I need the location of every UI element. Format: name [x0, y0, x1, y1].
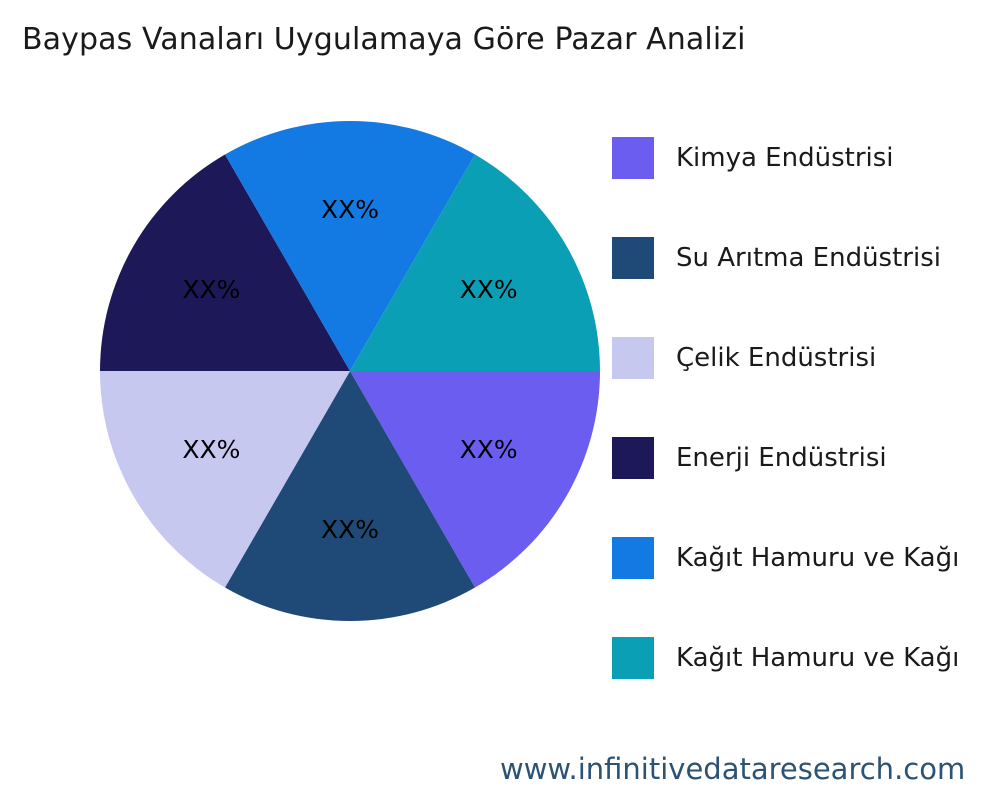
legend-item-label: Enerji Endüstrisi: [676, 443, 887, 473]
legend-item[interactable]: Enerji Endüstrisi: [612, 408, 1000, 508]
pie-slice-percent-label: XX%: [182, 435, 240, 464]
legend-item-label: Kimya Endüstrisi: [676, 143, 894, 173]
chart-legend: Kimya EndüstrisiSu Arıtma EndüstrisiÇeli…: [612, 108, 1000, 708]
legend-color-swatch: [612, 137, 654, 179]
legend-item[interactable]: Su Arıtma Endüstrisi: [612, 208, 1000, 308]
legend-item[interactable]: Kimya Endüstrisi: [612, 108, 1000, 208]
legend-color-swatch: [612, 437, 654, 479]
source-website-url: www.infinitivedataresearch.com: [500, 752, 965, 786]
pie-slice-percent-label: XX%: [460, 275, 518, 304]
legend-item-label: Kağıt Hamuru ve Kağı: [676, 643, 959, 673]
pie-slice-percent-label: XX%: [182, 275, 240, 304]
legend-item[interactable]: Çelik Endüstrisi: [612, 308, 1000, 408]
legend-item[interactable]: Kağıt Hamuru ve Kağı: [612, 608, 1000, 708]
pie-slice-percent-label: XX%: [321, 195, 379, 224]
pie-slice-percent-label: XX%: [460, 435, 518, 464]
pie-chart-figure: Baypas Vanaları Uygulamaya Göre Pazar An…: [0, 0, 1000, 800]
legend-item-label: Su Arıtma Endüstrisi: [676, 243, 941, 273]
pie-slice-percent-label: XX%: [321, 515, 379, 544]
legend-color-swatch: [612, 637, 654, 679]
legend-item-label: Kağıt Hamuru ve Kağı: [676, 543, 959, 573]
legend-color-swatch: [612, 537, 654, 579]
legend-item-label: Çelik Endüstrisi: [676, 343, 876, 373]
legend-color-swatch: [612, 237, 654, 279]
legend-item[interactable]: Kağıt Hamuru ve Kağı: [612, 508, 1000, 608]
legend-color-swatch: [612, 337, 654, 379]
